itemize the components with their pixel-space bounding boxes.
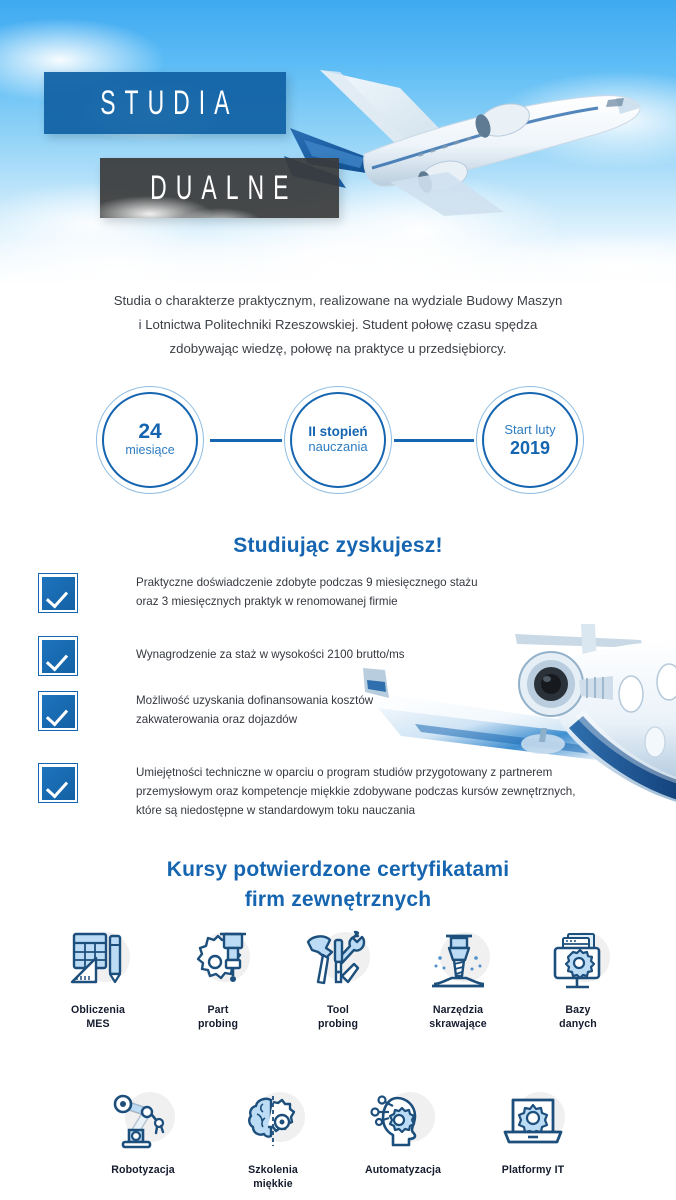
infographic-page: STUDIA DUALNE Studia o charakterze prakt… [0,0,676,1200]
title-block-dualne: DUALNE [100,158,339,218]
intro-line-3: zdobywając wiedzę, połowę na praktyce u … [70,337,606,361]
head-gear-network-icon [367,1088,439,1156]
connector-line-right [394,439,474,442]
checkbox-check-icon [38,573,78,613]
fact-start-year: 2019 [510,439,550,458]
course-label: Narzędzia skrawające [398,1004,518,1031]
gear-probe-icon [182,928,254,996]
benefit-4-line-3: które są niedostępne w standardowym toku… [136,801,575,820]
checkbox-check-icon [38,763,78,803]
intro-paragraph: Studia o charakterze praktycznym, realiz… [70,289,606,361]
course-part-probing[interactable]: Part probing [158,928,278,1031]
course-label: Part probing [158,1004,278,1031]
benefit-1-line-1: Praktyczne doświadczenie zdobyte podczas… [136,573,478,592]
title-text-dualne: DUALNE [141,168,297,207]
course-szkolenia-miekkie[interactable]: Szkolenia miękkie [208,1088,338,1191]
benefit-4-line-2: przemysłowym oraz kompetencje miękkie zd… [136,782,575,801]
fact-circle-start: Start luty 2019 [476,386,584,494]
courses-heading-line-2: firm zewnętrznych [0,885,676,915]
benefit-item-2: Wynagrodzenie za staż w wysokości 2100 b… [38,636,405,676]
intro-line-2: i Lotnictwa Politechniki Rzeszowskiej. S… [70,313,606,337]
course-tool-probing[interactable]: Tool probing [278,928,398,1031]
checkbox-check-icon [38,691,78,731]
course-label: Platformy IT [468,1164,598,1178]
benefit-item-3: Możliwość uzyskania dofinansowania koszt… [38,691,373,731]
hammer-wrench-screwdriver-icon [302,928,374,996]
drill-bit-icon [422,928,494,996]
benefit-item-1: Praktyczne doświadczenie zdobyte podczas… [38,573,478,613]
benefit-text-3: Możliwość uzyskania dofinansowania koszt… [136,691,373,729]
benefit-4-line-1: Umiejętności techniczne w oparciu o prog… [136,763,575,782]
benefit-3-line-2: zakwaterowania oraz dojazdów [136,710,373,729]
title-text-studia: STUDIA [91,83,238,122]
benefits-heading: Studiując zyskujesz! [0,534,676,558]
fact-duration-value: 24 [138,421,161,443]
course-label: Tool probing [278,1004,398,1031]
facts-row: 24 miesiące II stopień nauczania Start l… [0,386,676,494]
fact-start-label: Start luty [504,422,555,438]
laptop-gear-icon [497,1088,569,1156]
benefit-text-4: Umiejętności techniczne w oparciu o prog… [136,763,575,820]
benefit-1-line-2: oraz 3 miesięcznych praktyk w renomowane… [136,592,478,611]
fact-circle-degree: II stopień nauczania [284,386,392,494]
benefit-item-4: Umiejętności techniczne w oparciu o prog… [38,763,575,820]
fact-degree-value: II stopień [308,425,367,439]
courses-heading-line-1: Kursy potwierdzone certyfikatami [0,855,676,885]
courses-row-1: Obliczenia MES Part pr [0,928,676,1031]
fact-circle-duration: 24 miesiące [96,386,204,494]
course-label: Robotyzacja [78,1164,208,1178]
benefit-text-1: Praktyczne doświadczenie zdobyte podczas… [136,573,478,611]
monitor-gear-database-icon [542,928,614,996]
courses-heading: Kursy potwierdzone certyfikatami firm ze… [0,855,676,915]
brain-gear-icon [237,1088,309,1156]
courses-row-2: Robotyzacja Szkolenia miękki [0,1088,676,1191]
benefit-3-line-1: Możliwość uzyskania dofinansowania koszt… [136,691,373,710]
course-label: Bazy danych [518,1004,638,1031]
course-narzedzia-skrawajace[interactable]: Narzędzia skrawające [398,928,518,1031]
course-automatyzacja[interactable]: Automatyzacja [338,1088,468,1191]
benefit-text-2: Wynagrodzenie za staż w wysokości 2100 b… [136,636,405,664]
connector-line-left [210,439,282,442]
robot-arm-icon [107,1088,179,1156]
calculator-ruler-pencil-icon [62,928,134,996]
benefit-2-line-1: Wynagrodzenie za staż w wysokości 2100 b… [136,645,405,664]
course-label: Obliczenia MES [38,1004,158,1031]
course-bazy-danych[interactable]: Bazy danych [518,928,638,1031]
title-block-studia: STUDIA [44,72,286,134]
course-platformy-it[interactable]: Platformy IT [468,1088,598,1191]
fact-duration-unit: miesiące [125,443,174,459]
course-label: Automatyzacja [338,1164,468,1178]
course-obliczenia-mes[interactable]: Obliczenia MES [38,928,158,1031]
intro-line-1: Studia o charakterze praktycznym, realiz… [70,289,606,313]
course-robotyzacja[interactable]: Robotyzacja [78,1088,208,1191]
fact-degree-label: nauczania [308,439,367,455]
course-label: Szkolenia miękkie [208,1164,338,1191]
hero-sky-background: STUDIA DUALNE [0,0,676,286]
checkbox-check-icon [38,636,78,676]
